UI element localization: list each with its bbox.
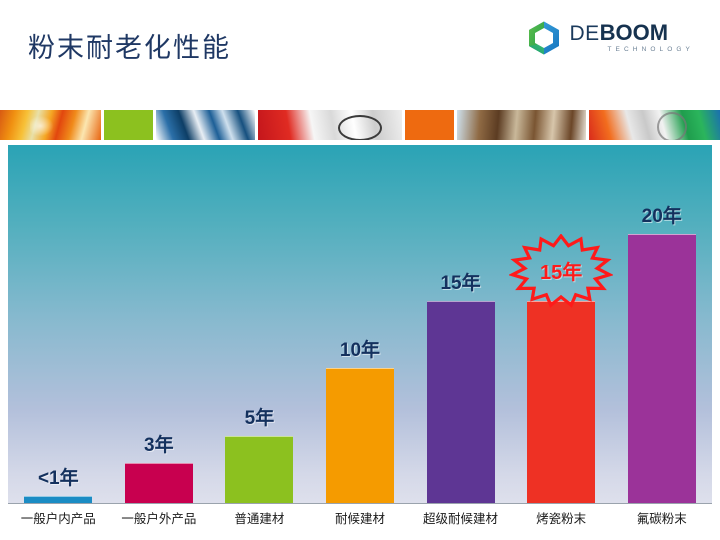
x-axis-label: 普通建材 — [209, 508, 310, 527]
bar[interactable] — [628, 234, 696, 503]
bar-group[interactable]: 15年 — [527, 145, 595, 503]
starburst-badge-label: 15年 — [509, 256, 613, 285]
bar-value-label: 20年 — [642, 201, 682, 228]
bar-group[interactable]: 5年 — [225, 145, 293, 503]
x-axis-line — [8, 503, 712, 504]
bar-group[interactable]: 20年 — [628, 145, 696, 503]
photo-wood-furniture — [457, 110, 585, 140]
bar-value-label: 10年 — [340, 335, 380, 362]
hexagon-gem-icon — [528, 21, 560, 55]
bar[interactable]: 15年 — [527, 301, 595, 503]
photo-abstract-orange — [0, 110, 101, 140]
logo-word-boom: BOOM — [600, 22, 668, 44]
brand-logo: DE BOOM TECHNOLOGY — [528, 21, 694, 55]
slide: 粉末耐老化性能 — [0, 0, 720, 540]
bar[interactable] — [125, 463, 193, 503]
photo-green-block — [104, 110, 153, 140]
x-axis-label: 氟碳粉末 — [611, 508, 712, 527]
photo-beverage-cans — [589, 110, 720, 140]
bar-value-label: 3年 — [144, 430, 174, 457]
bar[interactable] — [24, 496, 92, 503]
photo-orange-block — [405, 110, 454, 140]
chart-panel: <1年3年5年10年15年15年20年 — [8, 145, 712, 503]
page-title: 粉末耐老化性能 — [28, 26, 231, 65]
bar-group[interactable]: <1年 — [24, 145, 92, 503]
bar-value-label: 15年 — [440, 268, 480, 295]
x-axis-label: 一般户外产品 — [109, 508, 210, 527]
bar-group[interactable]: 3年 — [125, 145, 193, 503]
bar-value-label: <1年 — [38, 463, 79, 490]
starburst-badge: 15年 — [509, 234, 613, 308]
logo-tagline: TECHNOLOGY — [607, 47, 694, 54]
bar[interactable] — [326, 368, 394, 503]
x-axis-label: 耐候建材 — [310, 508, 411, 527]
photo-red-car — [258, 110, 402, 140]
photo-strip — [0, 110, 720, 140]
logo-word-de: DE — [569, 23, 599, 44]
bar-group[interactable]: 10年 — [326, 145, 394, 503]
bar[interactable] — [427, 301, 495, 503]
bar[interactable] — [225, 436, 293, 503]
x-axis-label: 烤瓷粉末 — [511, 508, 612, 527]
bar-chart-plot: <1年3年5年10年15年15年20年 — [8, 145, 712, 503]
x-axis-category-labels: 一般户内产品一般户外产品普通建材耐候建材超级耐候建材烤瓷粉末氟碳粉末 — [8, 506, 712, 536]
photo-blue-vehicle — [156, 110, 255, 140]
x-axis-label: 一般户内产品 — [8, 508, 109, 527]
bar-group[interactable]: 15年 — [427, 145, 495, 503]
x-axis-label: 超级耐候建材 — [410, 508, 511, 527]
bar-value-label: 5年 — [245, 403, 275, 430]
